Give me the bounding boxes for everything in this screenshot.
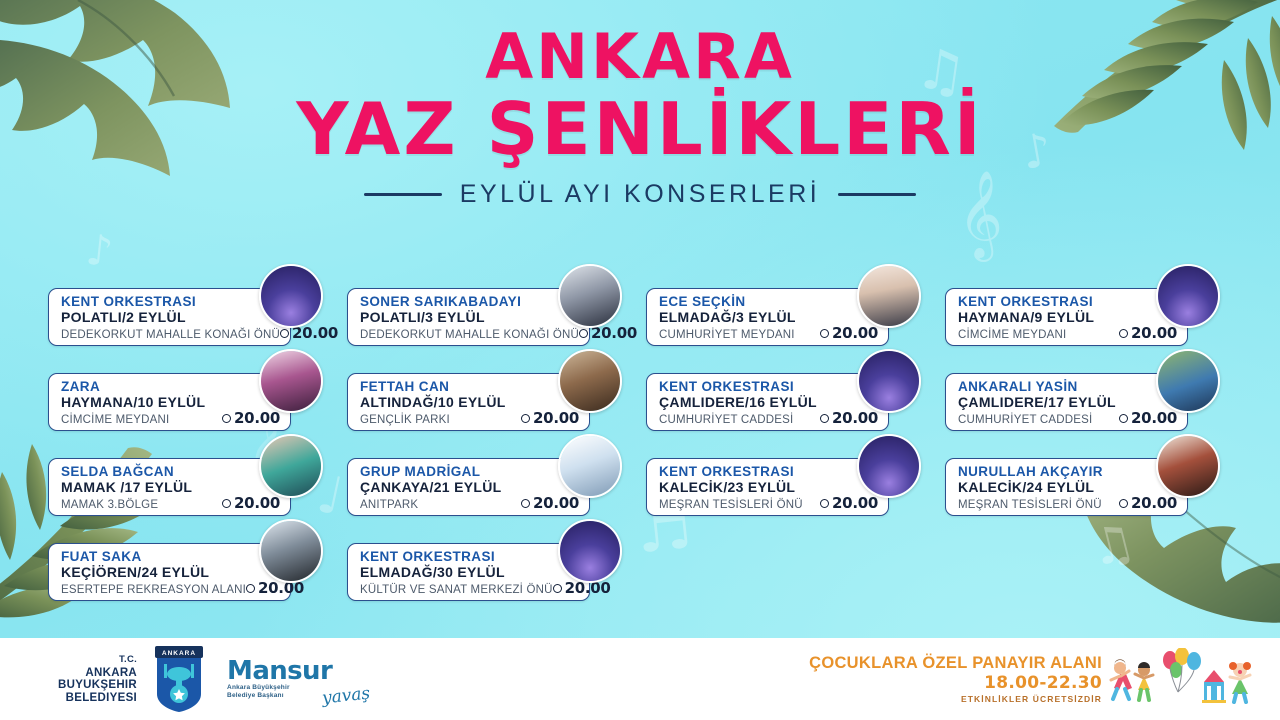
event-artist: SONER SARIKABADAYI: [360, 294, 581, 309]
event-place-date: ELMADAĞ/3 EYLÜL: [659, 309, 880, 325]
mayor-sub-line2: Belediye Başkanı: [227, 692, 332, 700]
artist-thumbnail-image: [261, 266, 321, 326]
clock-icon: [222, 499, 231, 508]
event-venue-row: CİMCİME MEYDANI 20.00: [61, 411, 282, 427]
svg-text:ANKARA: ANKARA: [162, 650, 196, 657]
event-cell: SELDA BAĞCAN MAMAK /17 EYLÜL MAMAK 3.BÖL…: [48, 448, 339, 525]
event-venue-row: GENÇLİK PARKI 20.00: [360, 411, 581, 427]
event-artist: GRUP MADRİGAL: [360, 464, 581, 479]
event-cell: SONER SARIKABADAYI POLATLI/3 EYLÜL DEDEK…: [347, 278, 638, 355]
event-card[interactable]: FETTAH CAN ALTINDAĞ/10 EYLÜL GENÇLİK PAR…: [347, 373, 590, 431]
event-venue: CUMHURİYET CADDESİ: [958, 413, 1092, 427]
event-venue-row: CUMHURİYET CADDESİ 20.00: [659, 411, 880, 427]
mayor-signature: yavaş: [321, 684, 371, 709]
event-venue: CİMCİME MEYDANI: [958, 328, 1066, 342]
clock-icon: [820, 414, 829, 423]
clock-icon: [521, 499, 530, 508]
artist-thumbnail: [857, 434, 921, 498]
event-artist: ZARA: [61, 379, 282, 394]
artist-thumbnail: [558, 349, 622, 413]
event-time-value: 20.00: [832, 496, 878, 510]
event-card[interactable]: GRUP MADRİGAL ÇANKAYA/21 EYLÜL ANITPARK …: [347, 458, 590, 516]
event-venue: ANITPARK: [360, 498, 418, 512]
rule-left: [364, 193, 442, 196]
municipality-line2: ANKARA: [58, 667, 137, 680]
event-venue: MEŞRAN TESİSLERİ ÖNÜ: [659, 498, 803, 512]
event-artist: KENT ORKESTRASI: [659, 379, 880, 394]
event-cell: FETTAH CAN ALTINDAĞ/10 EYLÜL GENÇLİK PAR…: [347, 363, 638, 440]
event-time-value: 20.00: [591, 326, 637, 340]
event-time: 20.00: [1119, 326, 1179, 340]
event-venue-row: KÜLTÜR VE SANAT MERKEZİ ÖNÜ 20.00: [360, 581, 581, 597]
event-card[interactable]: ECE SEÇKİN ELMADAĞ/3 EYLÜL CUMHURİYET ME…: [646, 288, 889, 346]
event-time: 20.00: [820, 411, 880, 425]
event-venue-row: MEŞRAN TESİSLERİ ÖNÜ 20.00: [659, 496, 880, 512]
event-place-date: ÇAMLIDERE/17 EYLÜL: [958, 394, 1179, 410]
event-time: 20.00: [222, 411, 282, 425]
clock-icon: [1119, 499, 1128, 508]
artist-thumbnail-image: [859, 436, 919, 496]
event-venue-row: ESERTEPE REKREASYON ALANI 20.00: [61, 581, 282, 597]
event-venue-row: CİMCİME MEYDANI 20.00: [958, 326, 1179, 342]
municipality-line1: T.C.: [58, 654, 137, 667]
event-cell: KENT ORKESTRASI KALECİK/23 EYLÜL MEŞRAN …: [646, 448, 937, 525]
clock-icon: [246, 584, 255, 593]
event-venue-row: CUMHURİYET CADDESİ 20.00: [958, 411, 1179, 427]
event-card[interactable]: SELDA BAĞCAN MAMAK /17 EYLÜL MAMAK 3.BÖL…: [48, 458, 291, 516]
municipality-branding: T.C. ANKARA BUYUKŞEHIR BELEDIYESI ANKARA…: [58, 646, 366, 712]
event-cell: KENT ORKESTRASI ÇAMLIDERE/16 EYLÜL CUMHU…: [646, 363, 937, 440]
clock-icon: [553, 584, 562, 593]
event-venue: DEDEKORKUT MAHALLE KONAĞI ÖNÜ: [61, 328, 280, 342]
event-card[interactable]: KENT ORKESTRASI HAYMANA/9 EYLÜL CİMCİME …: [945, 288, 1188, 346]
event-place-date: ALTINDAĞ/10 EYLÜL: [360, 394, 581, 410]
event-cell: KENT ORKESTRASI ELMADAĞ/30 EYLÜL KÜLTÜR …: [347, 533, 638, 610]
artist-thumbnail-image: [1158, 351, 1218, 411]
artist-thumbnail-image: [859, 266, 919, 326]
event-venue-row: CUMHURİYET MEYDANI 20.00: [659, 326, 880, 342]
event-artist: KENT ORKESTRASI: [659, 464, 880, 479]
event-venue-row: MAMAK 3.BÖLGE 20.00: [61, 496, 282, 512]
artist-thumbnail: [1156, 264, 1220, 328]
event-time-value: 20.00: [234, 496, 280, 510]
subtitle-row: EYLÜL AYI KONSERLERİ: [0, 180, 1280, 209]
event-cell: KENT ORKESTRASI HAYMANA/9 EYLÜL CİMCİME …: [945, 278, 1236, 355]
clock-icon: [820, 499, 829, 508]
mayor-name: Mansur: [227, 658, 332, 684]
event-cell: ANKARALI YASİN ÇAMLIDERE/17 EYLÜL CUMHUR…: [945, 363, 1236, 440]
event-place-date: HAYMANA/10 EYLÜL: [61, 394, 282, 410]
municipality-line4: BELEDIYESI: [58, 692, 137, 705]
event-cell: KENT ORKESTRASI POLATLI/2 EYLÜL DEDEKORK…: [48, 278, 339, 355]
event-venue: KÜLTÜR VE SANAT MERKEZİ ÖNÜ: [360, 583, 553, 597]
event-venue: CUMHURİYET CADDESİ: [659, 413, 793, 427]
artist-thumbnail: [1156, 434, 1220, 498]
event-artist: ANKARALI YASİN: [958, 379, 1179, 394]
poster-canvas: ♫ ♪ 𝄞 ♬ ♩ 𝄞 ♫ ♪ ANKARA YAZ ŞENLİKLERİ EY…: [0, 0, 1280, 720]
event-time: 20.00: [222, 496, 282, 510]
event-place-date: HAYMANA/9 EYLÜL: [958, 309, 1179, 325]
artist-thumbnail-image: [1158, 436, 1218, 496]
event-card[interactable]: FUAT SAKA KEÇİÖREN/24 EYLÜL ESERTEPE REK…: [48, 543, 291, 601]
event-time: 20.00: [820, 326, 880, 340]
clock-icon: [820, 329, 829, 338]
clock-icon: [579, 329, 588, 338]
event-artist: NURULLAH AKÇAYIR: [958, 464, 1179, 479]
clock-icon: [1119, 329, 1128, 338]
event-time-value: 20.00: [1131, 411, 1177, 425]
event-artist: SELDA BAĞCAN: [61, 464, 282, 479]
event-time: 20.00: [1119, 496, 1179, 510]
event-card[interactable]: ZARA HAYMANA/10 EYLÜL CİMCİME MEYDANI 20…: [48, 373, 291, 431]
artist-thumbnail-image: [560, 521, 620, 581]
fair-announcement: ÇOCUKLARA ÖZEL PANAYIR ALANI 18.00-22.30…: [809, 648, 1258, 710]
fair-text-block: ÇOCUKLARA ÖZEL PANAYIR ALANI 18.00-22.30…: [809, 653, 1102, 705]
event-card[interactable]: KENT ORKESTRASI ÇAMLIDERE/16 EYLÜL CUMHU…: [646, 373, 889, 431]
municipality-name: T.C. ANKARA BUYUKŞEHIR BELEDIYESI: [58, 654, 137, 704]
fair-title: ÇOCUKLARA ÖZEL PANAYIR ALANI: [809, 653, 1102, 673]
event-time-value: 20.00: [1131, 326, 1177, 340]
event-venue-row: ANITPARK 20.00: [360, 496, 581, 512]
artist-thumbnail-image: [261, 436, 321, 496]
event-venue-row: MEŞRAN TESİSLERİ ÖNÜ 20.00: [958, 496, 1179, 512]
clock-icon: [222, 414, 231, 423]
event-cell: FUAT SAKA KEÇİÖREN/24 EYLÜL ESERTEPE REK…: [48, 533, 339, 610]
event-venue-row: DEDEKORKUT MAHALLE KONAĞI ÖNÜ 20.00: [61, 326, 282, 342]
event-time: 20.00: [246, 581, 306, 595]
artist-thumbnail: [857, 264, 921, 328]
artist-thumbnail: [558, 434, 622, 498]
event-artist: FETTAH CAN: [360, 379, 581, 394]
ankara-crest-icon: ANKARA: [151, 646, 207, 712]
event-artist: FUAT SAKA: [61, 549, 282, 564]
event-cell: NURULLAH AKÇAYIR KALECİK/24 EYLÜL MEŞRAN…: [945, 448, 1236, 525]
mayor-branding: Mansur Ankara Büyükşehir Belediye Başkan…: [227, 658, 366, 700]
poster-footer: T.C. ANKARA BUYUKŞEHIR BELEDIYESI ANKARA…: [0, 638, 1280, 720]
artist-thumbnail: [259, 264, 323, 328]
event-venue: GENÇLİK PARKI: [360, 413, 450, 427]
event-time: 20.00: [521, 411, 581, 425]
event-time-value: 20.00: [1131, 496, 1177, 510]
event-card[interactable]: SONER SARIKABADAYI POLATLI/3 EYLÜL DEDEK…: [347, 288, 590, 346]
event-time-value: 20.00: [292, 326, 338, 340]
rule-right: [838, 193, 916, 196]
artist-thumbnail-image: [560, 351, 620, 411]
event-place-date: POLATLI/3 EYLÜL: [360, 309, 581, 325]
fair-hours: 18.00-22.30: [809, 673, 1102, 693]
event-venue: MEŞRAN TESİSLERİ ÖNÜ: [958, 498, 1102, 512]
event-card[interactable]: KENT ORKESTRASI KALECİK/23 EYLÜL MEŞRAN …: [646, 458, 889, 516]
event-card[interactable]: KENT ORKESTRASI ELMADAĞ/30 EYLÜL KÜLTÜR …: [347, 543, 590, 601]
event-card[interactable]: KENT ORKESTRASI POLATLI/2 EYLÜL DEDEKORK…: [48, 288, 291, 346]
artist-thumbnail-image: [560, 436, 620, 496]
event-place-date: KALECİK/23 EYLÜL: [659, 479, 880, 495]
event-venue: CUMHURİYET MEYDANI: [659, 328, 795, 342]
event-place-date: MAMAK /17 EYLÜL: [61, 479, 282, 495]
artist-thumbnail: [558, 519, 622, 583]
event-card[interactable]: NURULLAH AKÇAYIR KALECİK/24 EYLÜL MEŞRAN…: [945, 458, 1188, 516]
fair-free-note: ETKİNLİKLER ÜCRETSİZDİR: [809, 693, 1102, 705]
event-venue: CİMCİME MEYDANI: [61, 413, 169, 427]
event-time: 20.00: [1119, 411, 1179, 425]
event-place-date: ELMADAĞ/30 EYLÜL: [360, 564, 581, 580]
artist-thumbnail: [259, 434, 323, 498]
artist-thumbnail-image: [261, 351, 321, 411]
clock-icon: [1119, 414, 1128, 423]
event-time-value: 20.00: [234, 411, 280, 425]
children-fair-illustration-icon: [1108, 648, 1258, 710]
event-venue: DEDEKORKUT MAHALLE KONAĞI ÖNÜ: [360, 328, 579, 342]
mayor-sub-line1: Ankara Büyükşehir: [227, 684, 332, 692]
poster-header: ANKARA YAZ ŞENLİKLERİ EYLÜL AYI KONSERLE…: [0, 24, 1280, 209]
artist-thumbnail: [558, 264, 622, 328]
artist-thumbnail: [1156, 349, 1220, 413]
music-note-icon: ♪: [84, 229, 115, 274]
event-cell: ZARA HAYMANA/10 EYLÜL CİMCİME MEYDANI 20…: [48, 363, 339, 440]
event-artist: KENT ORKESTRASI: [958, 294, 1179, 309]
event-time: 20.00: [579, 326, 639, 340]
event-time: 20.00: [553, 581, 613, 595]
municipality-line3: BUYUKŞEHIR: [58, 679, 137, 692]
event-time-value: 20.00: [832, 411, 878, 425]
event-place-date: KEÇİÖREN/24 EYLÜL: [61, 564, 282, 580]
artist-thumbnail-image: [1158, 266, 1218, 326]
event-cell: GRUP MADRİGAL ÇANKAYA/21 EYLÜL ANITPARK …: [347, 448, 638, 525]
event-place-date: KALECİK/24 EYLÜL: [958, 479, 1179, 495]
event-time: 20.00: [280, 326, 340, 340]
event-grid: KENT ORKESTRASI POLATLI/2 EYLÜL DEDEKORK…: [48, 278, 1236, 610]
page-title-line2: YAZ ŞENLİKLERİ: [0, 90, 1280, 168]
clock-icon: [521, 414, 530, 423]
artist-thumbnail: [857, 349, 921, 413]
event-card[interactable]: ANKARALI YASİN ÇAMLIDERE/17 EYLÜL CUMHUR…: [945, 373, 1188, 431]
page-title-line1: ANKARA: [0, 24, 1280, 90]
event-venue: MAMAK 3.BÖLGE: [61, 498, 158, 512]
event-time: 20.00: [820, 496, 880, 510]
event-place-date: ÇAMLIDERE/16 EYLÜL: [659, 394, 880, 410]
artist-thumbnail-image: [560, 266, 620, 326]
artist-thumbnail-image: [859, 351, 919, 411]
event-venue-row: DEDEKORKUT MAHALLE KONAĞI ÖNÜ 20.00: [360, 326, 581, 342]
event-artist: KENT ORKESTRASI: [61, 294, 282, 309]
page-subtitle: EYLÜL AYI KONSERLERİ: [460, 180, 820, 209]
event-venue: ESERTEPE REKREASYON ALANI: [61, 583, 246, 597]
artist-thumbnail: [259, 519, 323, 583]
event-time: 20.00: [521, 496, 581, 510]
event-artist: KENT ORKESTRASI: [360, 549, 581, 564]
event-time-value: 20.00: [258, 581, 304, 595]
artist-thumbnail: [259, 349, 323, 413]
event-time-value: 20.00: [565, 581, 611, 595]
artist-thumbnail-image: [261, 521, 321, 581]
event-place-date: POLATLI/2 EYLÜL: [61, 309, 282, 325]
event-artist: ECE SEÇKİN: [659, 294, 880, 309]
event-time-value: 20.00: [832, 326, 878, 340]
event-time-value: 20.00: [533, 411, 579, 425]
event-cell: ECE SEÇKİN ELMADAĞ/3 EYLÜL CUMHURİYET ME…: [646, 278, 937, 355]
event-place-date: ÇANKAYA/21 EYLÜL: [360, 479, 581, 495]
clock-icon: [280, 329, 289, 338]
event-time-value: 20.00: [533, 496, 579, 510]
